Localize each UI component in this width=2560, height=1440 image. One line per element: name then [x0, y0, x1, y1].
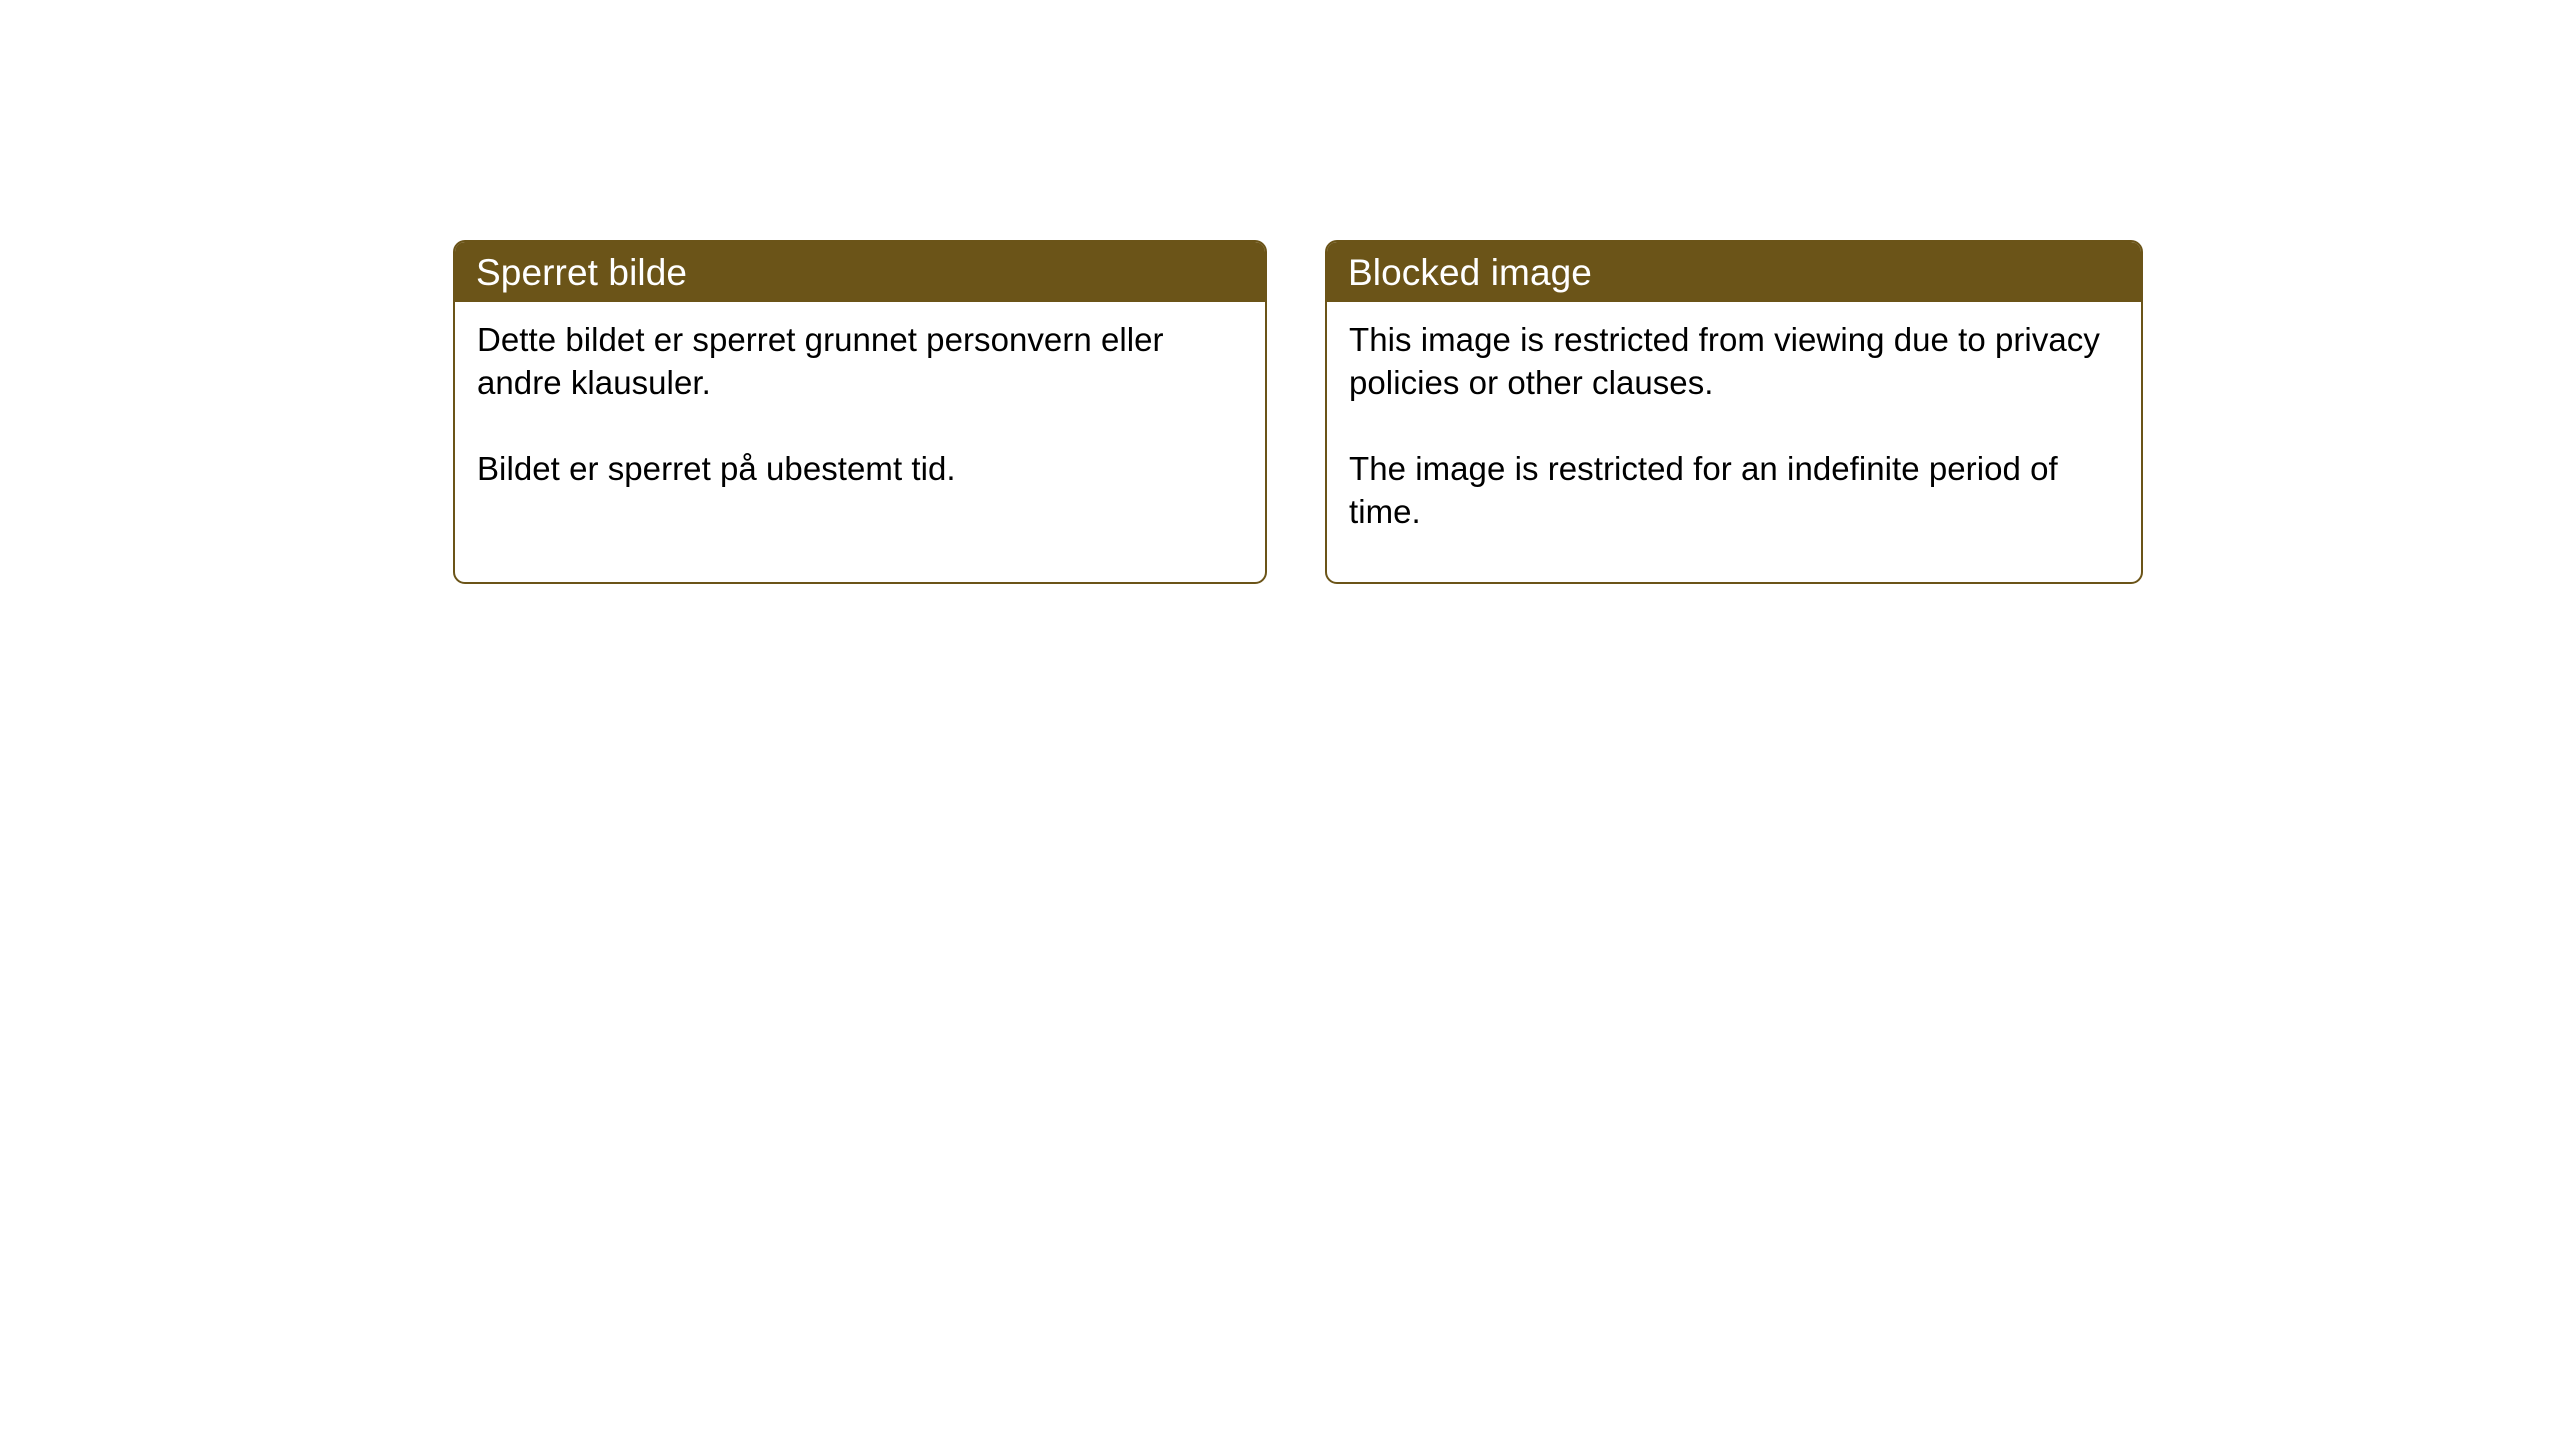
paragraph-spacer — [477, 404, 1245, 447]
card-paragraph-privacy-norwegian: Dette bildet er sperret grunnet personve… — [477, 318, 1245, 404]
card-title-norwegian: Sperret bilde — [476, 254, 687, 291]
card-header-english: Blocked image — [1325, 240, 2143, 302]
page-canvas: Sperret bilde Dette bildet er sperret gr… — [0, 0, 2560, 1440]
card-body-norwegian: Dette bildet er sperret grunnet personve… — [455, 302, 1265, 490]
paragraph-spacer — [1349, 404, 2121, 447]
blocked-image-card-norwegian: Sperret bilde Dette bildet er sperret gr… — [453, 240, 1267, 584]
card-paragraph-duration-english: The image is restricted for an indefinit… — [1349, 447, 2121, 533]
card-title-english: Blocked image — [1348, 254, 1592, 291]
card-header-norwegian: Sperret bilde — [453, 240, 1267, 302]
card-paragraph-duration-norwegian: Bildet er sperret på ubestemt tid. — [477, 447, 1245, 490]
card-paragraph-privacy-english: This image is restricted from viewing du… — [1349, 318, 2121, 404]
blocked-image-card-english: Blocked image This image is restricted f… — [1325, 240, 2143, 584]
card-body-english: This image is restricted from viewing du… — [1327, 302, 2141, 533]
